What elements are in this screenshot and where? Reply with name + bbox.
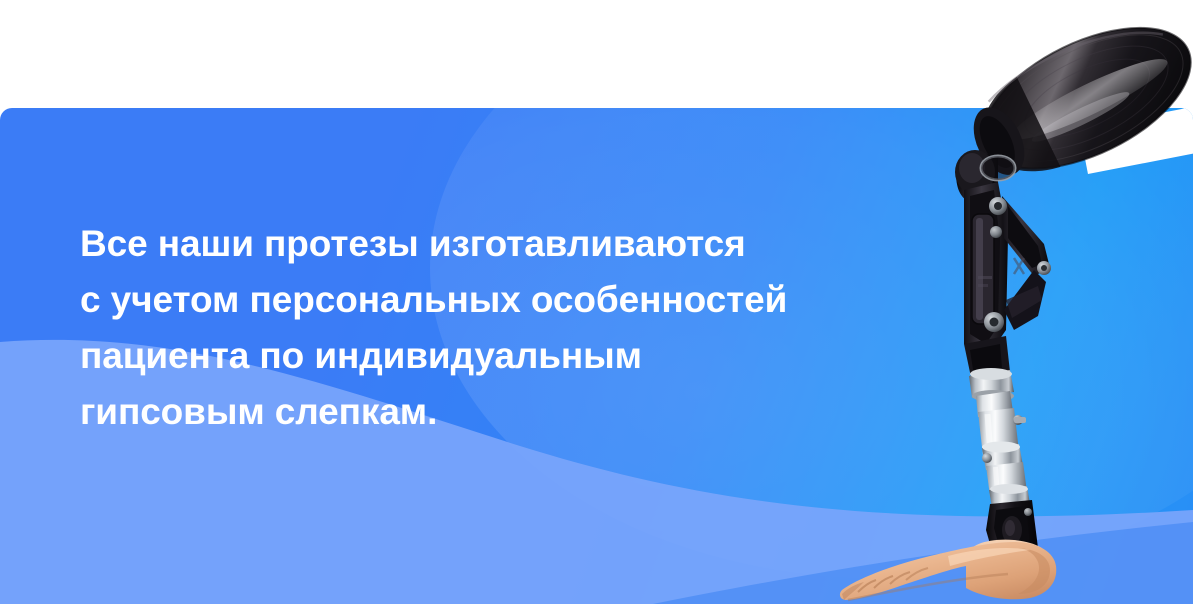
banner-headline: Все наши протезы изготавливаются с учето… [80, 216, 910, 440]
banner-wave-shape-secondary [653, 514, 1193, 604]
banner-stage: Все наши протезы изготавливаются с учето… [0, 0, 1200, 604]
